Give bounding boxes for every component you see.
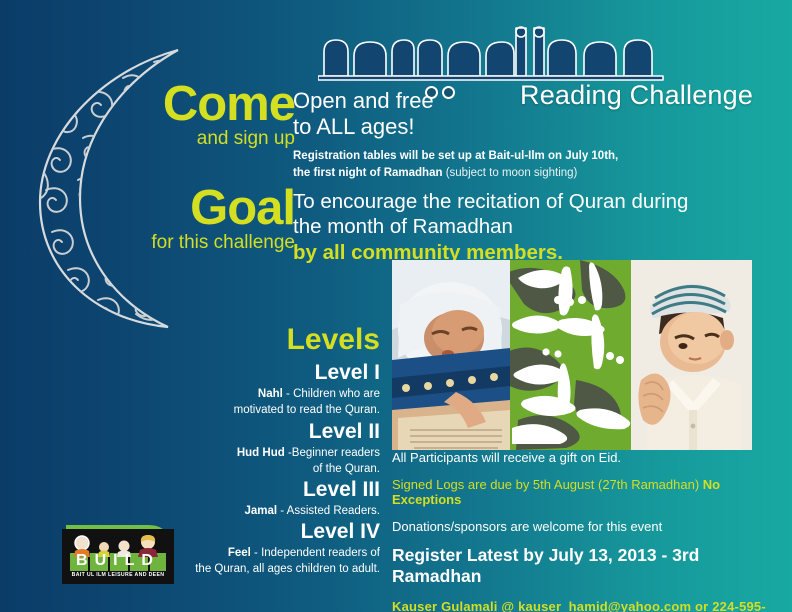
come-headline: Come xyxy=(150,82,295,127)
level-4-desc-line2: the Quran, all ages children to adult. xyxy=(195,563,380,575)
level-4-desc-line1: - Independent readers of xyxy=(251,547,380,559)
come-body-line2: to ALL ages! xyxy=(293,114,623,140)
registration-note-line2: the first night of Ramadhan (subject to … xyxy=(293,165,623,182)
level-1-description: Nahl - Children who are motivated to rea… xyxy=(165,387,380,418)
registration-note-light: (subject to moon sighting) xyxy=(446,167,578,179)
level-1-desc-line2: motivated to read the Quran. xyxy=(234,404,380,416)
build-logo-tagline: BAIT UL ILM LEISURE AND DEEN xyxy=(64,572,172,578)
photo-arabic-calligraphy-pattern xyxy=(510,260,631,450)
level-item-2: Level II Hud Hud -Beginner readers of th… xyxy=(165,421,380,477)
level-3-key: Jamal xyxy=(244,505,277,517)
photo-boy-praying xyxy=(631,260,752,450)
photo-girl-reading-quran xyxy=(392,260,510,450)
photo-strip xyxy=(392,260,752,450)
info-column: All Participants will receive a gift on … xyxy=(392,450,782,612)
level-4-name: Level IV xyxy=(165,521,380,543)
goal-body-line2: the month of Ramadhan xyxy=(293,215,693,240)
level-2-description: Hud Hud -Beginner readers of the Quran. xyxy=(165,446,380,477)
build-logo: BUILD BAIT UL ILM LEISURE AND DEEN xyxy=(62,507,182,585)
registration-note-bold: the first night of Ramadhan xyxy=(293,167,443,179)
info-signed-logs: Signed Logs are due by 5th August (27th … xyxy=(392,477,782,508)
goal-subheadline: for this challenge xyxy=(130,232,295,254)
come-subheadline: and sign up xyxy=(150,128,295,150)
goal-body-block: To encourage the recitation of Quran dur… xyxy=(293,190,693,265)
level-3-name: Level III xyxy=(165,479,380,501)
level-1-key: Nahl xyxy=(258,388,283,400)
level-4-key: Feel xyxy=(228,547,251,559)
info-register-deadline: Register Latest by July 13, 2013 - 3rd R… xyxy=(392,545,782,587)
level-2-desc-line2: of the Quran. xyxy=(313,463,380,475)
ramadhan-reading-challenge-poster: Reading Challenge Come and sign up Open … xyxy=(0,0,792,612)
info-donations: Donations/sponsors are welcome for this … xyxy=(392,519,782,535)
level-3-desc-line1: - Assisted Readers. xyxy=(277,505,380,517)
goal-body-text: To encourage the recitation of Quran dur… xyxy=(293,190,693,239)
come-body-block: Open and free to ALL ages! Registration … xyxy=(293,88,623,181)
registration-note-line1: Registration tables will be set up at Ba… xyxy=(293,148,623,165)
goal-body-line1: To encourage the recitation of Quran dur… xyxy=(293,190,693,215)
come-headline-block: Come and sign up xyxy=(150,82,295,150)
goal-headline-block: Goal for this challenge xyxy=(130,186,295,254)
level-1-desc-line1: - Children who are xyxy=(283,388,380,400)
levels-title: Levels xyxy=(170,323,380,357)
level-2-key: Hud Hud xyxy=(237,447,285,459)
level-item-1: Level I Nahl - Children who are motivate… xyxy=(165,362,380,418)
level-3-description: Jamal - Assisted Readers. xyxy=(165,504,380,520)
info-signed-logs-main: Signed Logs are due by 5th August (27th … xyxy=(392,477,703,492)
level-item-4: Level IV Feel - Independent readers of t… xyxy=(165,521,380,577)
info-contact: Kauser Gulamali @ kauser_hamid@yahoo.com… xyxy=(392,599,782,612)
level-2-name: Level II xyxy=(165,421,380,443)
goal-headline: Goal xyxy=(130,186,295,231)
level-2-desc-line1: -Beginner readers xyxy=(285,447,380,459)
registration-note: Registration tables will be set up at Ba… xyxy=(293,148,623,181)
info-gift: All Participants will receive a gift on … xyxy=(392,450,782,466)
build-logo-word: BUILD xyxy=(66,552,170,570)
come-body-line1: Open and free xyxy=(293,88,623,114)
ramadhan-logotype xyxy=(318,22,768,82)
level-4-description: Feel - Independent readers of the Quran,… xyxy=(165,546,380,577)
come-body-text: Open and free to ALL ages! xyxy=(293,88,623,139)
level-1-name: Level I xyxy=(165,362,380,384)
level-item-3: Level III Jamal - Assisted Readers. xyxy=(165,479,380,520)
